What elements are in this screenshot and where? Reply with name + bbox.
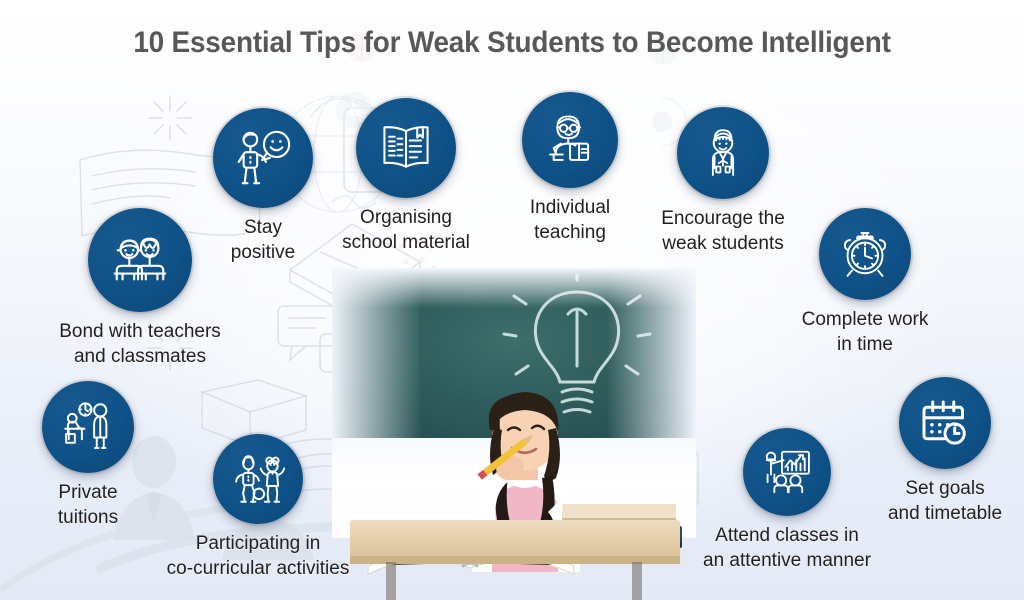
tip-node-4[interactable]: Individual teaching	[500, 92, 640, 245]
positive-thinking-person-icon	[213, 108, 313, 208]
tip-label-6: Complete work in time	[788, 307, 942, 357]
tip-label-8: Attend classes in an attentive manner	[688, 523, 886, 573]
board-fade-top	[332, 268, 696, 308]
page-title: 10 Essential Tips for Weak Students to B…	[36, 26, 988, 60]
open-book-icon	[356, 98, 456, 198]
student-with-backpack-icon	[677, 107, 769, 199]
tip-node-2[interactable]: Stay positive	[193, 108, 333, 265]
wooden-desk	[350, 520, 680, 560]
tip-label-7: Set goals and timetable	[866, 476, 1024, 526]
two-students-at-desk-icon	[88, 208, 192, 312]
tip-node-5[interactable]: Encourage the weak students	[650, 107, 796, 256]
tip-node-7[interactable]: Set goals and timetable	[866, 377, 1024, 526]
tip-label-9: Participating in co-curricular activitie…	[148, 531, 368, 581]
tip-node-10[interactable]: Private tuitions	[18, 381, 158, 530]
tip-node-3[interactable]: Organising school material	[326, 98, 486, 255]
desk-leg-left	[386, 562, 396, 600]
tip-label-3: Organising school material	[326, 205, 486, 255]
tip-label-1: Bond with teachers and classmates	[20, 319, 260, 369]
calendar-clock-icon	[899, 377, 991, 469]
desk-edge	[350, 556, 680, 564]
infographic-poster: 10 Essential Tips for Weak Students to B…	[0, 0, 1024, 600]
teacher-with-glasses-icon	[522, 92, 618, 188]
tutor-and-student-icon	[42, 381, 134, 473]
tip-node-9[interactable]: Participating in co-curricular activitie…	[148, 434, 368, 581]
alarm-clock-icon	[819, 208, 911, 300]
desk-leg-right	[632, 562, 642, 600]
tip-node-8[interactable]: Attend classes in an attentive manner	[688, 428, 886, 573]
girl-thinking-at-desk-photo	[332, 268, 696, 600]
kids-playing-ball-icon	[213, 434, 303, 524]
tip-label-4: Individual teaching	[500, 195, 640, 245]
tip-node-6[interactable]: Complete work in time	[788, 208, 942, 357]
tip-label-10: Private tuitions	[18, 480, 158, 530]
tip-label-2: Stay positive	[193, 215, 333, 265]
tip-label-5: Encourage the weak students	[650, 206, 796, 256]
presentation-board-icon	[743, 428, 831, 516]
